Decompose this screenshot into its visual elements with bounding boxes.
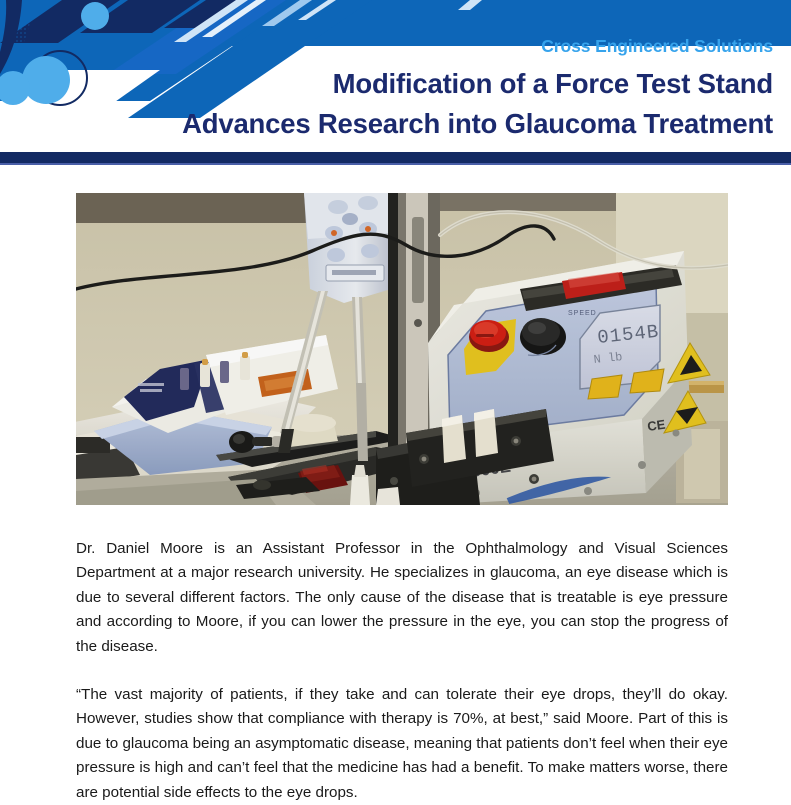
article-paragraph-2: “The vast majority of patients, if they … (76, 683, 728, 805)
header-divider-navy (0, 152, 791, 163)
article-photo: SPEED 0154B N lb CE M500E (76, 193, 728, 505)
page-header: Cross Engineered Solutions Modification … (0, 0, 791, 166)
brand-name: Cross Engineered Solutions (541, 36, 773, 57)
header-text-block: Cross Engineered Solutions Modification … (0, 0, 791, 152)
header-divider-thin (0, 163, 791, 165)
page-title-line-2: Advances Research into Glaucoma Treatmen… (53, 104, 773, 144)
article-paragraph-1: Dr. Daniel Moore is an Assistant Profess… (76, 537, 728, 659)
page-title-line-1: Modification of a Force Test Stand (333, 68, 773, 99)
force-test-stand-photo-illustration: SPEED 0154B N lb CE M500E (76, 193, 728, 505)
page-title: Modification of a Force Test Stand Advan… (53, 64, 773, 144)
article-body: Dr. Daniel Moore is an Assistant Profess… (76, 537, 728, 805)
